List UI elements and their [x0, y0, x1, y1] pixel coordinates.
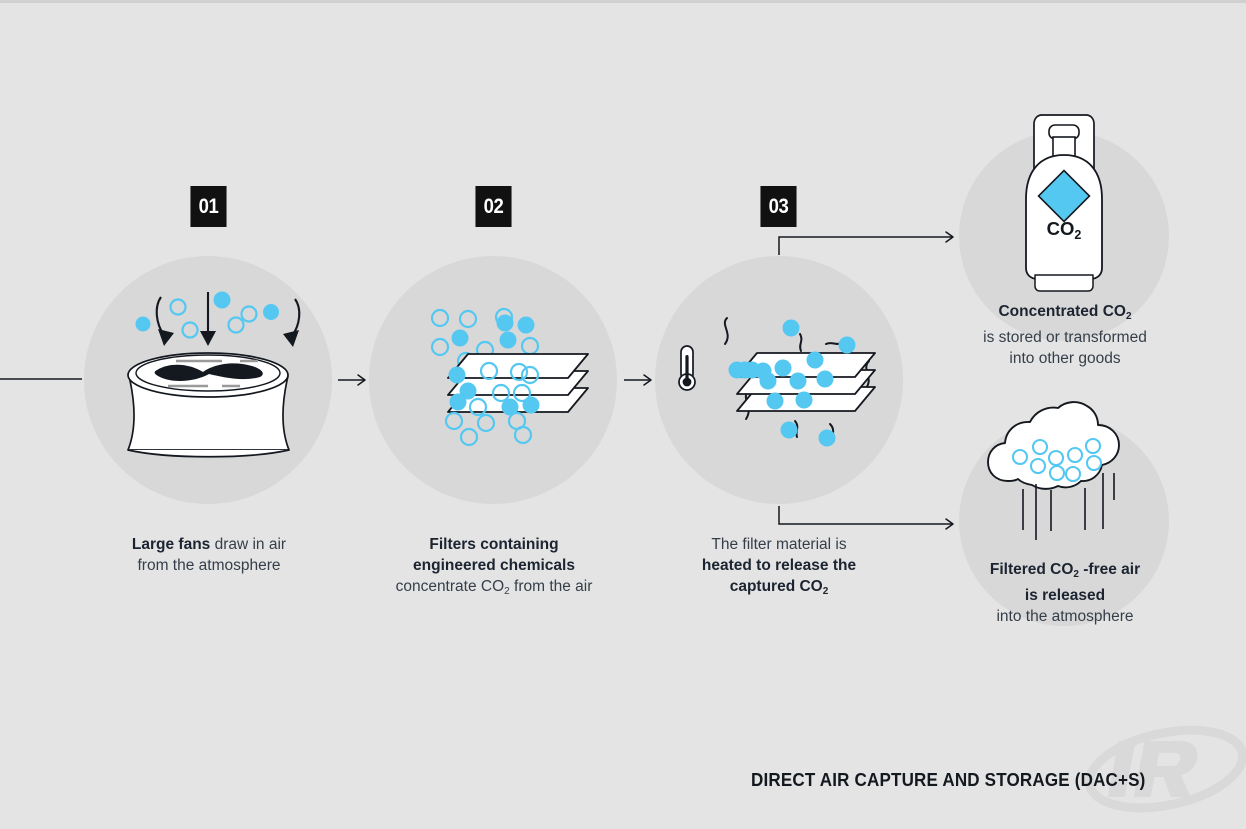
connector-arrow-2-3	[624, 375, 651, 385]
output-cylinder-caption: Concentrated CO2 is stored or transforme…	[944, 301, 1186, 369]
step-3-caption: The filter material is heated to release…	[629, 534, 929, 602]
step-badge-03: 03	[760, 186, 796, 227]
caption-line3-sub-3: 2	[823, 586, 829, 597]
footer-title: DIRECT AIR CAPTURE AND STORAGE (DAC+S)	[751, 769, 1146, 791]
cloud-caption-line3: into the atmosphere	[944, 606, 1186, 627]
caption-line3-pre-2: concentrate CO	[396, 578, 505, 595]
infographic-canvas: CO2	[0, 0, 1246, 829]
cloud-caption-pre: Filtered CO	[990, 561, 1074, 578]
branch-arrow-to-cylinder	[779, 232, 953, 255]
cyl-caption-line3: into other goods	[944, 348, 1186, 369]
caption-line2-2: engineered chemicals	[413, 557, 575, 574]
caption-line1-3: The filter material is	[629, 534, 929, 555]
cyl-caption-line2: is stored or transformed	[944, 327, 1186, 348]
thermometer-icon	[679, 346, 695, 390]
illustration-layer: CO2	[0, 3, 1246, 829]
cyl-caption-pre: Concentrated CO	[998, 303, 1125, 320]
cyl-caption-sub: 2	[1126, 311, 1132, 322]
gas-cylinder-icon: CO2	[1026, 115, 1102, 291]
caption-line2-1: from the atmosphere	[59, 555, 359, 576]
filter-sheet-top	[448, 354, 588, 378]
caption-line2-3: heated to release the	[702, 557, 856, 574]
caption-line3-pre-3: captured CO	[730, 578, 823, 595]
output-cloud-caption: Filtered CO2 -free air is released into …	[944, 559, 1186, 627]
step-badge-01: 01	[190, 186, 226, 227]
caption-bold-1: Large fans	[132, 536, 210, 553]
branch-arrow-to-cloud	[779, 506, 953, 529]
step-1-caption: Large fans draw in air from the atmosphe…	[59, 534, 359, 576]
caption-bold-2: Filters containing	[429, 536, 558, 553]
caption-line3-post-2: from the air	[510, 578, 593, 595]
cloud-caption-line2: is released	[1025, 587, 1105, 604]
step-2-caption: Filters containing engineered chemicals …	[344, 534, 644, 602]
cloud-caption-post: -free air	[1079, 561, 1140, 578]
step-badge-02: 02	[475, 186, 511, 227]
caption-rest-1: draw in air	[210, 536, 286, 553]
connector-arrow-1-2	[338, 375, 365, 385]
